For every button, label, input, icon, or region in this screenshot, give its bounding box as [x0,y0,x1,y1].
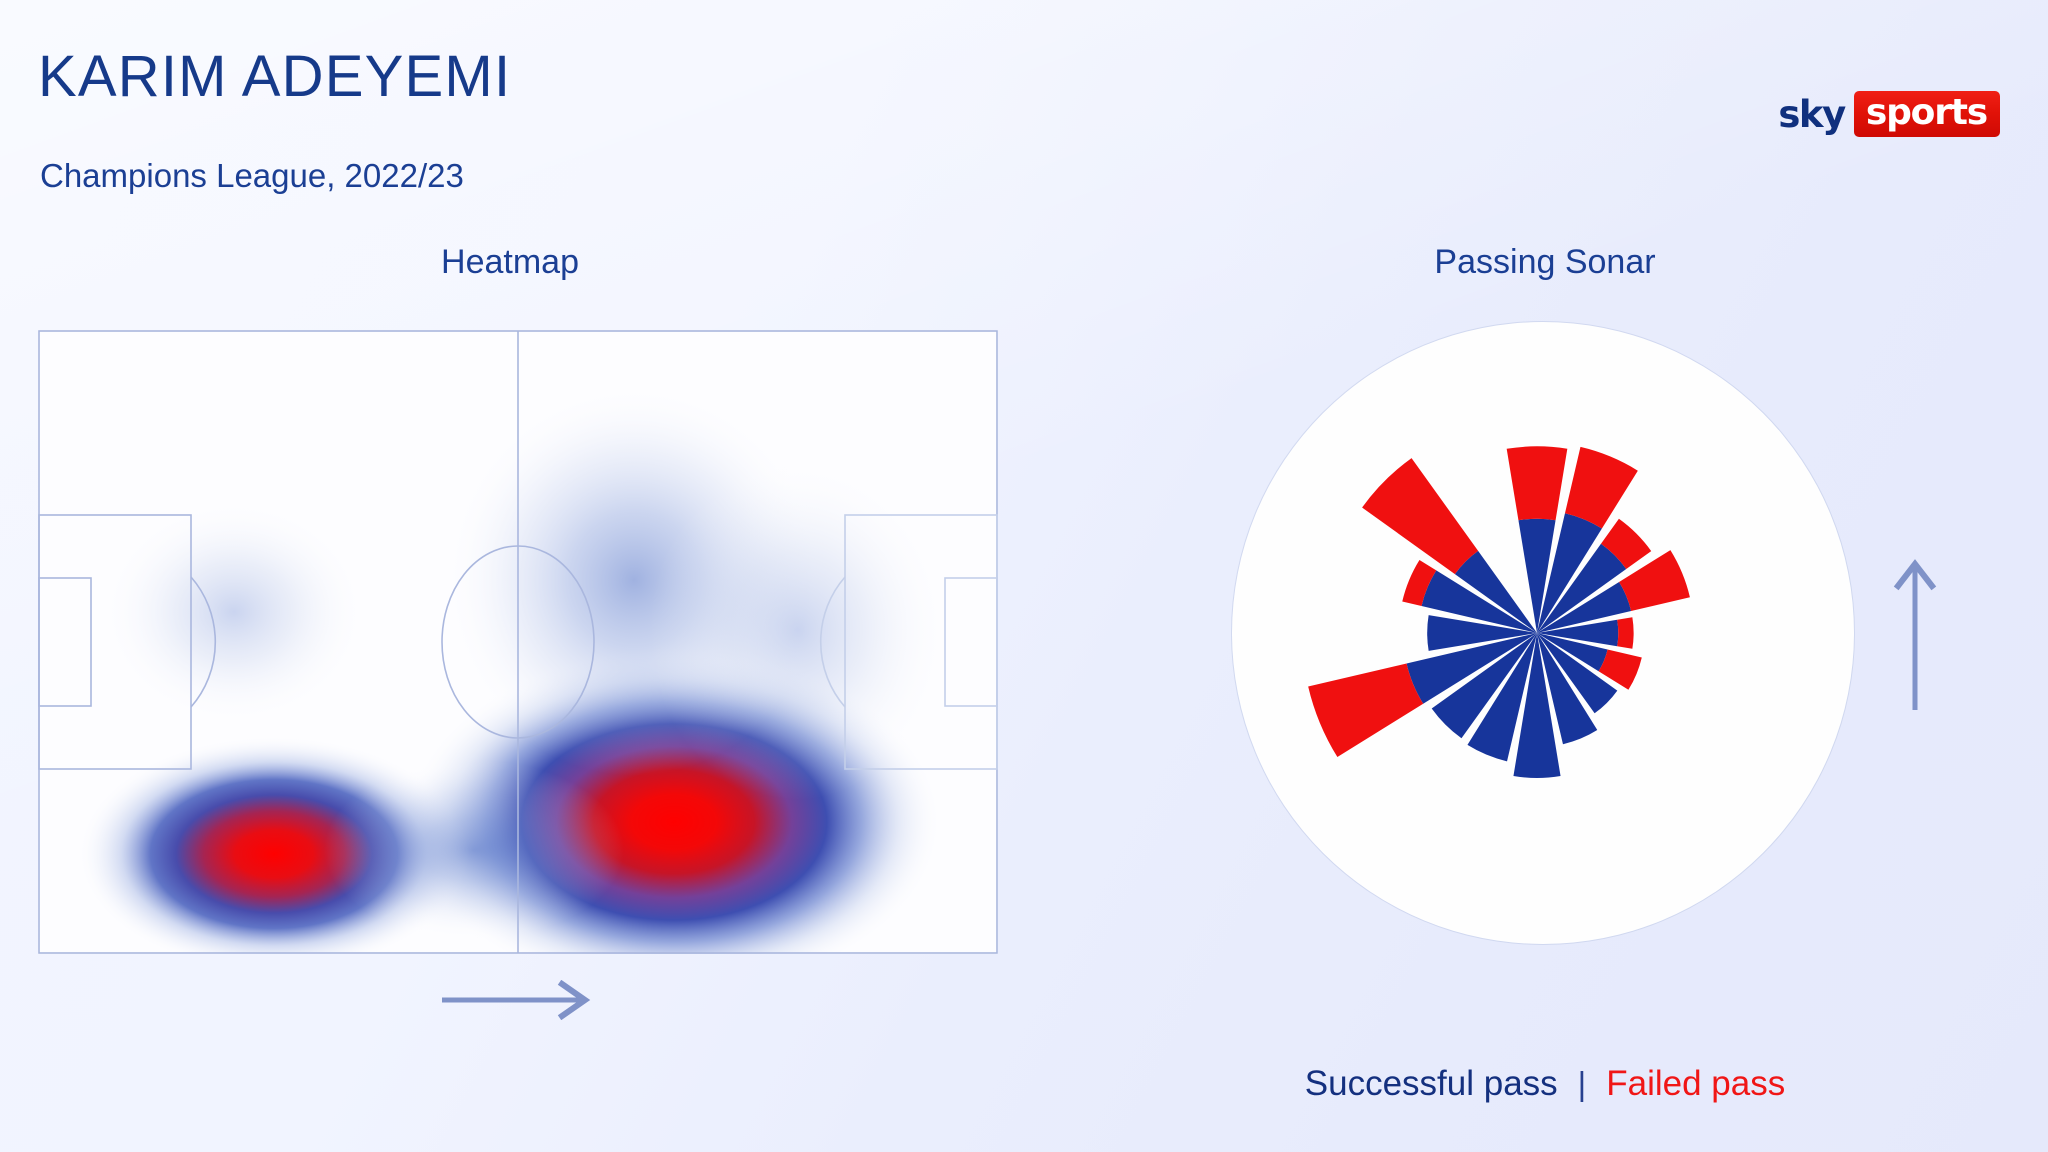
sonar-wedge-failed [1362,458,1478,574]
sonar-wedges [1232,322,1854,944]
page-title: KARIM ADEYEMI [38,43,511,110]
sports-badge: sports [1854,91,2000,137]
sports-wordmark: sports [1866,94,1987,132]
legend-failed-pass: Failed pass [1606,1064,1785,1104]
sonar-wedge-failed [1565,447,1638,529]
heatmap-chart [38,330,998,954]
sonar-legend: Successful pass | Failed pass [1085,1064,2005,1104]
legend-successful-pass: Successful pass [1305,1064,1558,1104]
sonar-wedge-failed [1507,446,1568,520]
sonar-panel-title: Passing Sonar [1085,243,2005,282]
sonar-wedge-failed [1617,617,1633,648]
sky-wordmark: sky [1778,96,1854,133]
heatmap-panel-title: Heatmap [0,243,1020,282]
arrow-up-icon [1890,556,1940,712]
arrow-right-icon [440,980,600,1020]
page-subtitle: Champions League, 2022/23 [40,157,464,195]
pitch-and-heat-surface [38,330,998,954]
legend-separator: | [1578,1065,1587,1103]
passing-sonar-chart [1232,322,1854,944]
sonar-wedge-failed [1308,663,1423,757]
sky-sports-logo: sky sports [1778,90,2000,138]
